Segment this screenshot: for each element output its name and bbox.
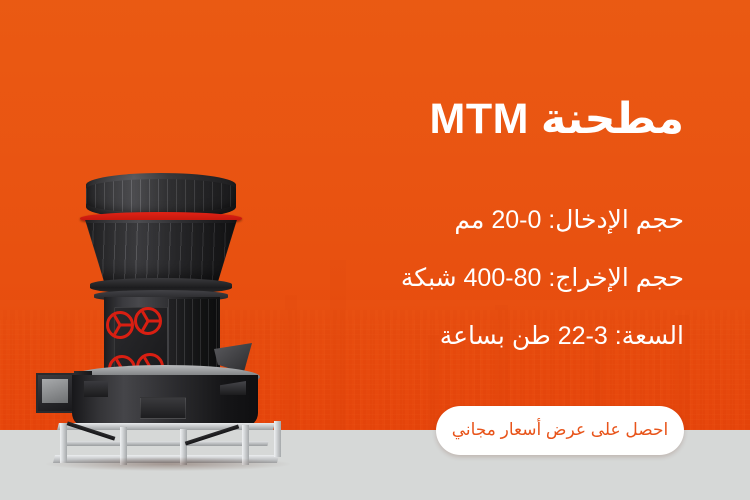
spec-output-size: حجم الإخراج: 80-400 شبكة [264, 264, 684, 293]
mill-drum-ribs [86, 179, 236, 213]
promo-banner: مطحنة MTM حجم الإدخال: 0-20 مم حجم الإخر… [0, 0, 750, 500]
banner-text-block: مطحنة MTM حجم الإدخال: 0-20 مم حجم الإخر… [264, 96, 684, 351]
cta-container: احصل على عرض أسعار مجاني [436, 406, 684, 455]
specification-list: حجم الإدخال: 0-20 مم حجم الإخراج: 80-400… [264, 206, 684, 351]
spec-capacity: السعة: 3-22 طن بساعة [264, 322, 684, 351]
mill-body-ribs [168, 299, 218, 373]
mill-base-lug-left [84, 381, 108, 397]
mill-cone-ribs [82, 223, 240, 281]
mill-frame-leg [274, 421, 281, 457]
mill-base-plate [140, 397, 186, 419]
mill-handwheel-icon [134, 307, 162, 335]
spec-feed-size: حجم الإدخال: 0-20 مم [264, 206, 684, 235]
mill-inspection-box-inner [42, 379, 68, 403]
mill-frame-rail-mid [61, 441, 268, 446]
mill-handwheel-icon [106, 311, 134, 339]
get-free-quote-button[interactable]: احصل على عرض أسعار مجاني [436, 406, 684, 455]
mill-ground-shadow [46, 457, 290, 471]
page-title: مطحنة MTM [264, 96, 684, 142]
